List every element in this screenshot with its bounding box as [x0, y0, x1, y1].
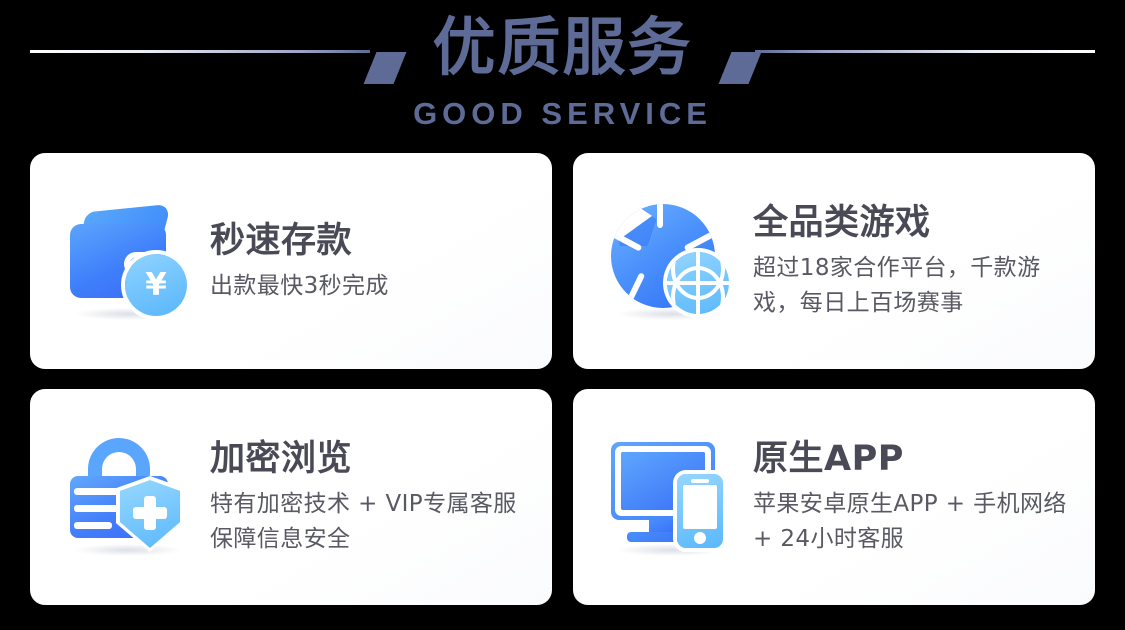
card-text-block: 加密浏览 特有加密技术 + VIP专属客服保障信息安全	[202, 437, 552, 557]
header-title-group: 优质服务 GOOD SERVICE	[0, 0, 1125, 132]
lock-slot	[74, 522, 112, 529]
phone-speaker	[691, 479, 709, 483]
service-card-games[interactable]: 全品类游戏 超过18家合作平台，千款游戏，每日上百场赛事	[573, 153, 1095, 369]
card-title: 全品类游戏	[753, 201, 1079, 245]
card-description: 出款最快3秒完成	[210, 269, 536, 304]
soccer-seam	[627, 272, 646, 302]
card-text-block: 全品类游戏 超过18家合作平台，千款游戏，每日上百场赛事	[745, 201, 1095, 321]
soccer-basketball-icon	[605, 196, 745, 326]
yen-coin-icon: ¥	[125, 254, 187, 316]
monitor-phone-icon	[605, 432, 745, 562]
cross-icon	[133, 507, 167, 519]
phone-screen	[683, 485, 717, 529]
page-header: 优质服务 GOOD SERVICE	[0, 0, 1125, 140]
card-description: 苹果安卓原生APP + 手机网络 + 24小时客服	[753, 487, 1079, 557]
service-card-deposit[interactable]: ¥ 秒速存款 出款最快3秒完成	[30, 153, 552, 369]
lock-slot	[74, 488, 120, 495]
card-description: 超过18家合作平台，千款游戏，每日上百场赛事	[753, 251, 1079, 321]
card-description: 特有加密技术 + VIP专属客服保障信息安全	[210, 487, 536, 557]
basketball-icon	[667, 252, 729, 314]
phone-home-button	[694, 532, 706, 544]
page-subtitle: GOOD SERVICE	[0, 96, 1125, 132]
service-card-grid: ¥ 秒速存款 出款最快3秒完成	[30, 153, 1095, 605]
icon-shadow	[76, 544, 180, 556]
card-title: 加密浏览	[210, 437, 536, 481]
service-card-encryption[interactable]: 加密浏览 特有加密技术 + VIP专属客服保障信息安全	[30, 389, 552, 605]
yen-symbol: ¥	[145, 270, 167, 301]
lock-shield-icon	[62, 432, 202, 562]
soccer-seam	[684, 230, 715, 251]
wallet-coin-icon: ¥	[62, 196, 202, 326]
card-title: 原生APP	[753, 437, 1079, 481]
card-text-block: 原生APP 苹果安卓原生APP + 手机网络 + 24小时客服	[745, 437, 1095, 557]
card-title: 秒速存款	[210, 219, 536, 263]
card-text-block: 秒速存款 出款最快3秒完成	[202, 219, 552, 304]
page-title: 优质服务	[0, 0, 1125, 96]
service-card-native-app[interactable]: 原生APP 苹果安卓原生APP + 手机网络 + 24小时客服	[573, 389, 1095, 605]
soccer-seam	[657, 204, 663, 228]
